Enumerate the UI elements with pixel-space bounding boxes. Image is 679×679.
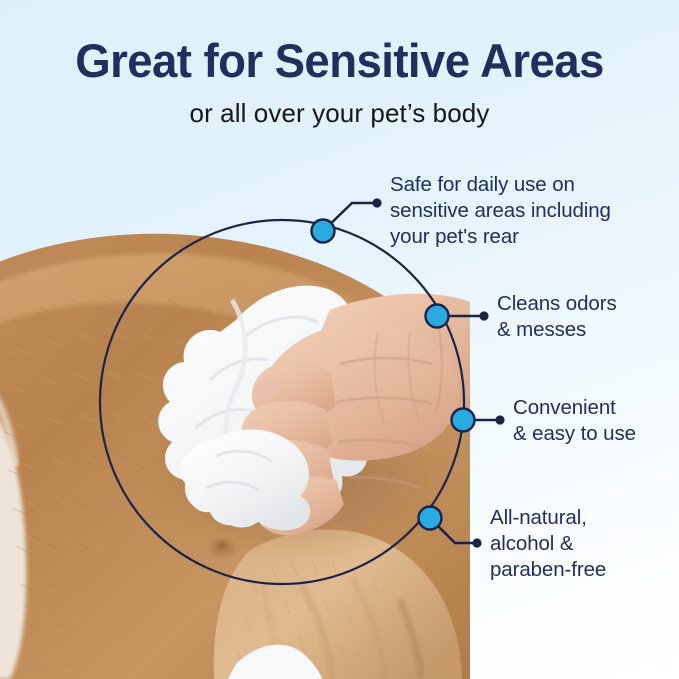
header: Great for Sensitive Areas or all over yo…	[0, 0, 679, 128]
callout-all-natural: All-natural, alcohol & paraben-free	[490, 505, 606, 583]
callout-safe-for-daily-use: Safe for daily use on sensitive areas in…	[390, 172, 611, 250]
callout-convenient-easy: Convenient & easy to use	[513, 395, 636, 447]
marker-convenient-easy[interactable]	[452, 409, 475, 432]
sensitive-areas-infographic: Great for Sensitive Areas or all over yo…	[0, 0, 679, 679]
leader-endpoint-dot	[479, 311, 488, 320]
marker-all-natural[interactable]	[419, 507, 442, 530]
leader-endpoint-dot	[495, 415, 504, 424]
highlight-circle	[100, 220, 464, 584]
page-subtitle: or all over your pet’s body	[0, 86, 679, 128]
callout-cleans-odors: Cleans odors & messes	[497, 291, 617, 343]
leader-endpoint-dot	[372, 198, 381, 207]
marker-safe-for-daily-use[interactable]	[312, 220, 335, 243]
marker-cleans-odors[interactable]	[426, 305, 449, 328]
leader-endpoint-dot	[472, 538, 481, 547]
page-title: Great for Sensitive Areas	[10, 0, 669, 86]
